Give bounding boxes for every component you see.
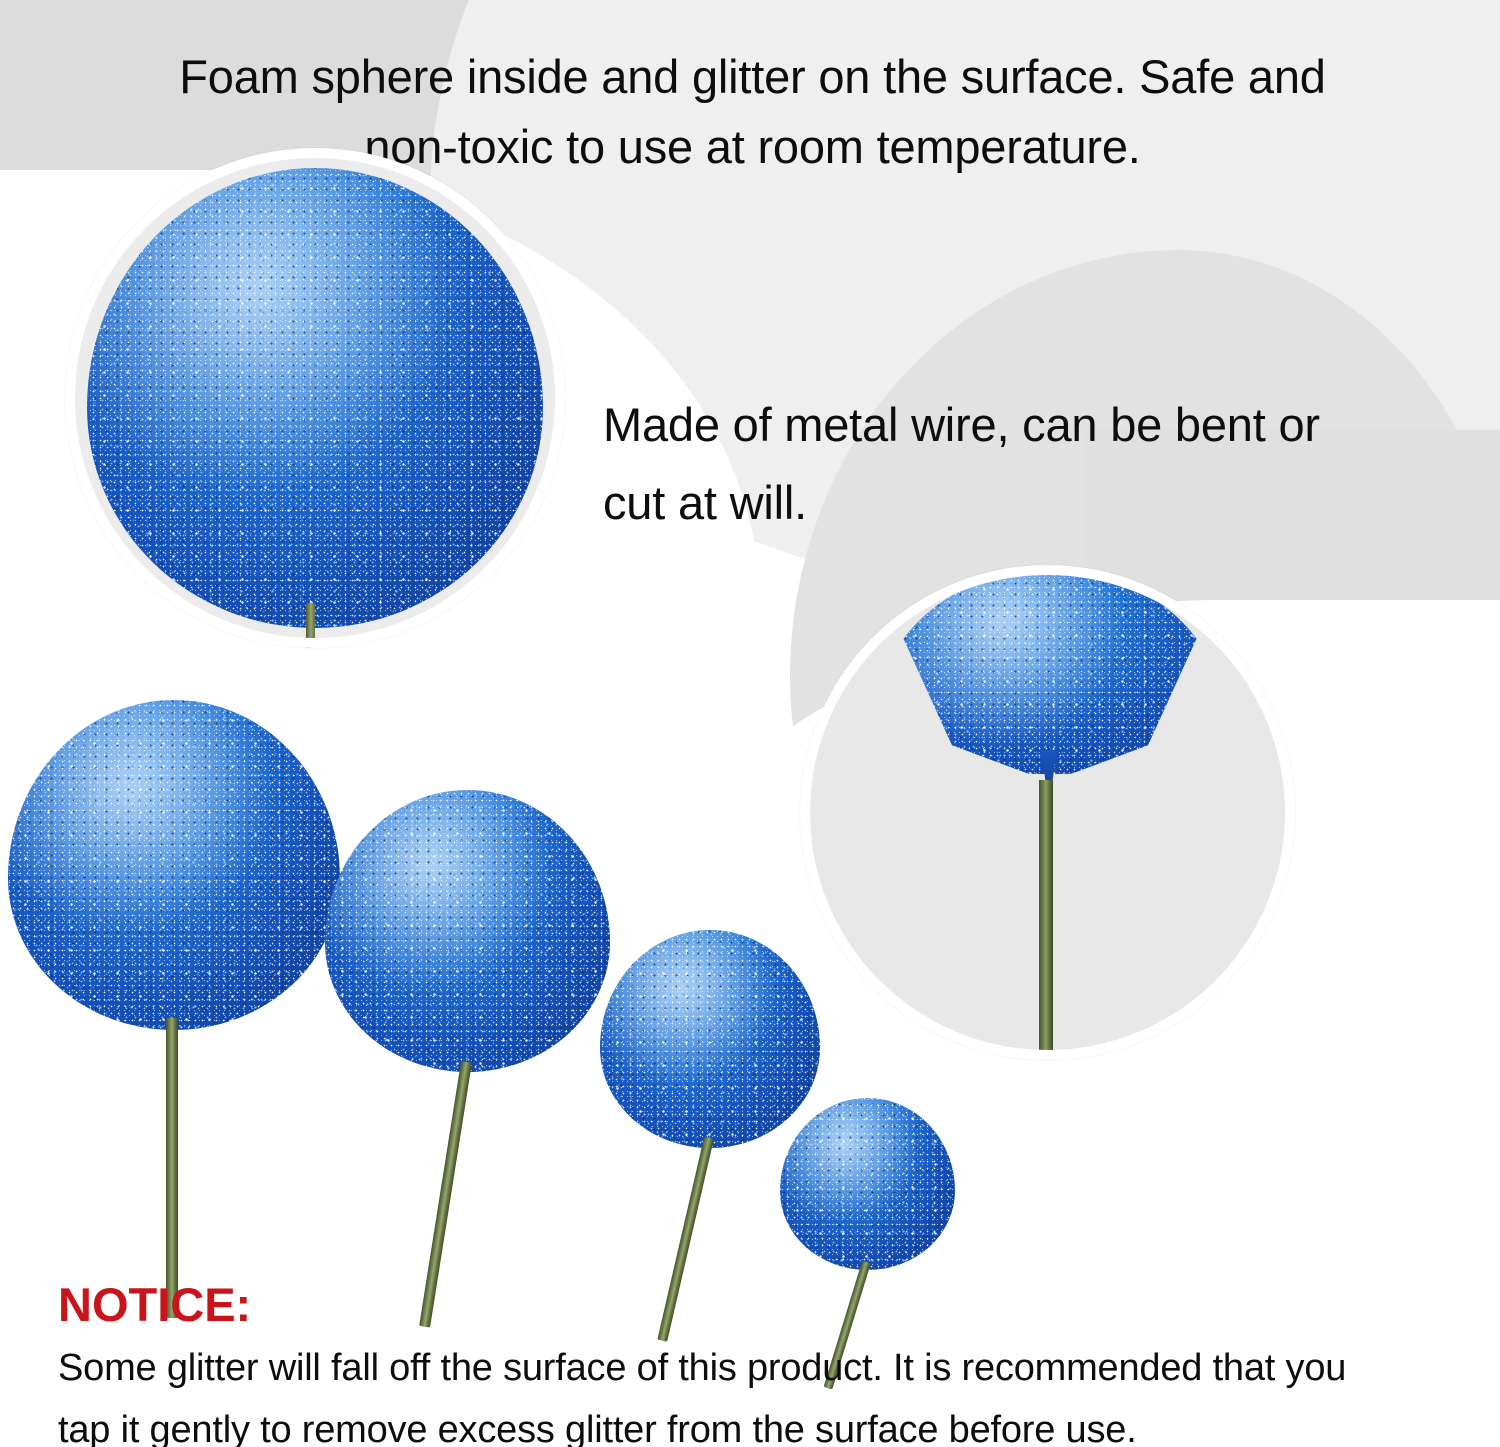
- notice-line-1: Some glitter will fall off the surface o…: [58, 1337, 1448, 1399]
- notice-heading: NOTICE:: [58, 1277, 251, 1332]
- metal-wire-stem: [1039, 780, 1053, 1055]
- mid-text-line-1: Made of metal wire, can be bent or: [603, 386, 1473, 464]
- headline-line-1: Foam sphere inside and glitter on the su…: [179, 50, 1325, 103]
- glitter-pick-size-1: [8, 700, 348, 1320]
- wire-stem: [166, 1018, 178, 1318]
- glitter-ball: [780, 1098, 955, 1270]
- glitter-sphere-closeup: [87, 168, 543, 628]
- wire-stem: [657, 1137, 714, 1342]
- product-infographic: Foam sphere inside and glitter on the su…: [0, 0, 1500, 1447]
- wire-stem: [419, 1061, 472, 1327]
- mid-text-line-2: cut at will.: [603, 464, 1473, 542]
- closeup-sphere-inset: [65, 148, 565, 648]
- wire-stem-stub: [306, 603, 315, 648]
- metal-wire-text: Made of metal wire, can be bent or cut a…: [603, 386, 1473, 542]
- closeup-wire-inset: [800, 565, 1295, 1060]
- glitter-pick-size-4: [780, 1098, 960, 1348]
- notice-body-text: Some glitter will fall off the surface o…: [58, 1337, 1448, 1447]
- glitter-pick-size-2: [325, 790, 615, 1320]
- glitter-ball: [325, 790, 610, 1072]
- notice-line-2: tap it gently to remove excess glitter f…: [58, 1399, 1448, 1447]
- glitter-ball: [8, 700, 340, 1030]
